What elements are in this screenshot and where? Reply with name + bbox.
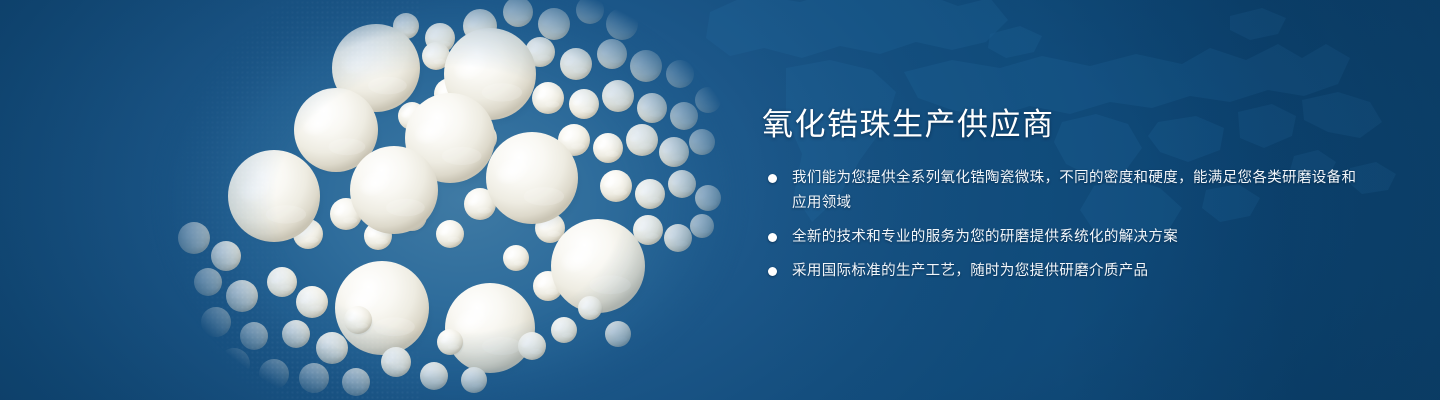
banner-headline: 氧化锆珠生产供应商: [762, 104, 1362, 146]
bullet-dot-icon: [768, 267, 777, 276]
list-item-text: 我们能为您提供全系列氧化锆陶瓷微珠，不同的密度和硬度，能满足您各类研磨设备和应用…: [792, 170, 1356, 211]
banner-copy: 氧化锆珠生产供应商 我们能为您提供全系列氧化锆陶瓷微珠，不同的密度和硬度，能满足…: [762, 104, 1362, 284]
banner-feature-list: 我们能为您提供全系列氧化锆陶瓷微珠，不同的密度和硬度，能满足您各类研磨设备和应用…: [762, 166, 1362, 284]
hero-banner: 氧化锆珠生产供应商 我们能为您提供全系列氧化锆陶瓷微珠，不同的密度和硬度，能满足…: [0, 0, 1440, 400]
bullet-dot-icon: [768, 233, 777, 242]
list-item: 全新的技术和专业的服务为您的研磨提供系统化的解决方案: [762, 225, 1362, 250]
list-item-text: 全新的技术和专业的服务为您的研磨提供系统化的解决方案: [792, 229, 1178, 245]
list-item-text: 采用国际标准的生产工艺，随时为您提供研磨介质产品: [792, 263, 1148, 279]
list-item: 采用国际标准的生产工艺，随时为您提供研磨介质产品: [762, 259, 1362, 284]
bullet-dot-icon: [768, 174, 777, 183]
list-item: 我们能为您提供全系列氧化锆陶瓷微珠，不同的密度和硬度，能满足您各类研磨设备和应用…: [762, 166, 1362, 216]
